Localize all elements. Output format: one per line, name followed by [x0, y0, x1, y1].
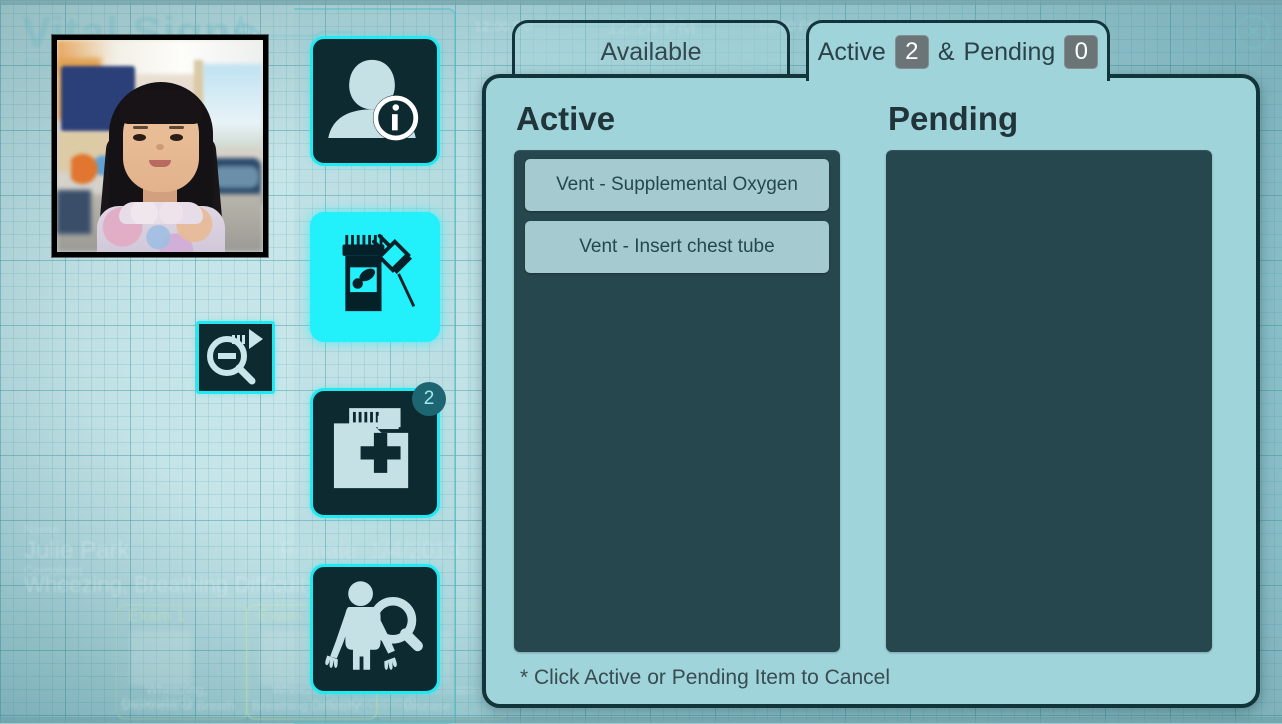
active-column: Active Vent - Supplemental Oxygen Vent -…	[514, 100, 840, 652]
list-item[interactable]: Vent - Supplemental Oxygen	[525, 159, 829, 211]
pending-column-title: Pending	[888, 100, 1212, 138]
tab-active-label: Active	[818, 38, 886, 67]
body-magnifier-icon	[313, 567, 431, 685]
tab-separator: &	[938, 38, 955, 67]
pending-column: Pending	[886, 100, 1212, 652]
tool-rail: 2	[294, 8, 456, 724]
patient-info-icon	[313, 39, 431, 157]
tab-pending-count: 0	[1064, 35, 1098, 69]
zoom-out-magnifier-icon	[199, 324, 272, 391]
active-pending-panel: Active Vent - Supplemental Oxygen Vent -…	[482, 74, 1260, 708]
panel-footnote: * Click Active or Pending Item to Cancel	[520, 666, 890, 690]
medication-syringe-icon	[313, 215, 431, 333]
list-item[interactable]: Vent - Insert chest tube	[525, 221, 829, 273]
ghost-exam-photo	[130, 630, 192, 686]
pending-list[interactable]	[886, 150, 1212, 652]
patient-photo	[57, 40, 263, 252]
rail-item-medical-records[interactable]: 2	[310, 388, 440, 518]
zoom-out-button[interactable]	[196, 321, 275, 394]
close-icon[interactable]: ✕	[1236, 15, 1270, 49]
rail-item-medications[interactable]	[310, 212, 440, 342]
rail-item-physical-exam[interactable]	[310, 564, 440, 694]
tab-available-label: Available	[600, 38, 701, 67]
active-column-title: Active	[516, 100, 840, 138]
tab-active-count: 2	[895, 35, 929, 69]
tab-panel-seam	[810, 72, 1100, 80]
rail-item-patient-info[interactable]	[310, 36, 440, 166]
top-edge-bar	[0, 0, 1282, 5]
tab-available[interactable]: Available	[512, 20, 790, 81]
medical-records-folder-icon	[313, 391, 431, 509]
patient-photo-frame	[52, 35, 268, 257]
tab-pending-label: Pending	[964, 38, 1056, 67]
records-badge-count: 2	[412, 382, 446, 416]
active-list[interactable]: Vent - Supplemental Oxygen Vent - Insert…	[514, 150, 840, 652]
